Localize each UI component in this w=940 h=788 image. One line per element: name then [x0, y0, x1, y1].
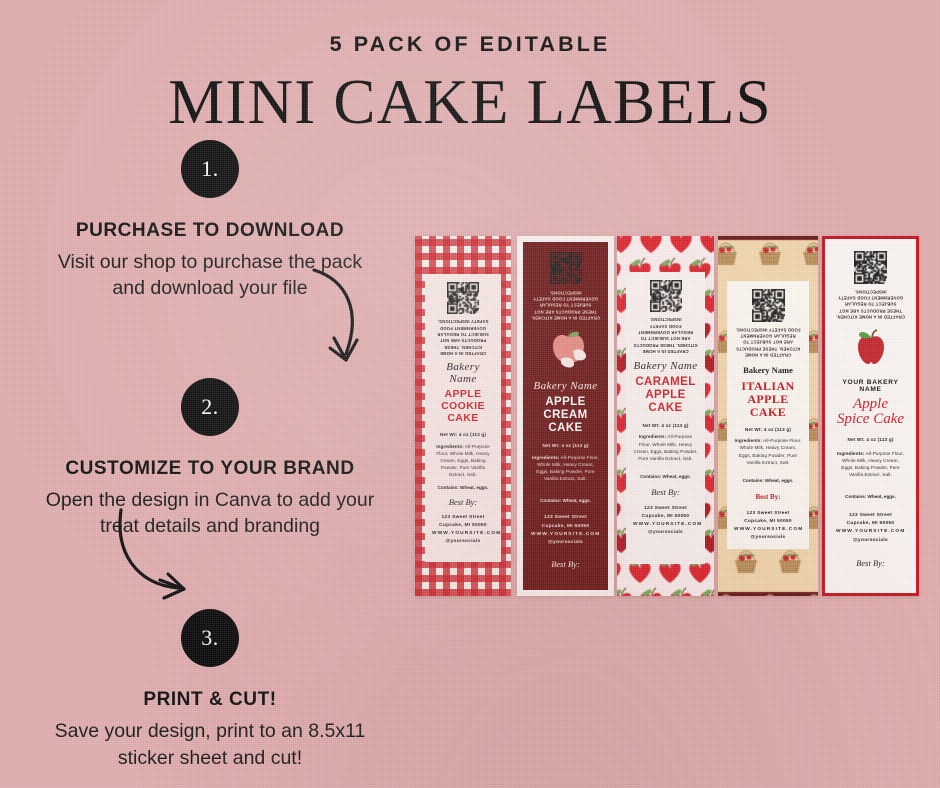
label-3-disclaimer: CRAFTED IN A HOME KITCHEN. THESE PRODUCT… — [633, 316, 698, 354]
step-3-body: Save your design, print to an 8.5x11 sti… — [0, 718, 420, 771]
label-2-ingredients: Ingredients: All-Purpose Flour, Whole Mi… — [531, 454, 600, 482]
label-1-card: CRAFTED IN A HOME KITCHEN. THESE PRODUCT… — [425, 274, 501, 562]
apple-with-slices-icon-2 — [531, 329, 600, 374]
label-1-website: WWW.YOURSITE.COM — [432, 530, 494, 538]
label-5-city: Cupcake, MI 50050 — [836, 520, 905, 528]
arrow-step2-to-step3 — [112, 500, 212, 610]
label-2-website: WWW.YOURSITE.COM — [531, 531, 600, 539]
label-3-card: CRAFTED IN A HOME KITCHEN. THESE PRODUCT… — [626, 272, 705, 564]
label-1-bakery-name: Bakery Name — [432, 361, 494, 385]
label-1-city: Cupcake, MI 50050 — [432, 522, 494, 530]
step-1-badge: 1. — [181, 140, 239, 198]
label-4-street: 123 Sweet Street — [734, 510, 802, 518]
label-3-website: WWW.YOURSITE.COM — [633, 521, 698, 529]
qr-code-1 — [447, 282, 479, 314]
label-4-city: Cupcake, MI 50050 — [734, 518, 802, 526]
label-4-best-by: Best By: — [734, 493, 802, 501]
label-5-net-weight: Net Wt: 4 oz (113 g) — [836, 437, 905, 442]
label-5-address: 123 Sweet Street Cupcake, MI 50050 WWW.Y… — [836, 512, 905, 545]
label-3-net-weight: Net Wt: 4 oz (113 g) — [633, 423, 698, 428]
label-4-website: WWW.YOURSITE.COM — [734, 526, 802, 534]
label-3-street: 123 Sweet Street — [633, 505, 698, 513]
label-1-ingredients: Ingredients: All-Purpose Flour, Whole Mi… — [432, 443, 494, 479]
label-5-ingredients: Ingredients: All-Purpose Flour, Whole Mi… — [836, 450, 905, 478]
qr-code-3 — [650, 280, 682, 312]
label-5-street: 123 Sweet Street — [836, 512, 905, 520]
label-1-contains: Contains: Wheat, eggs. — [432, 485, 494, 490]
label-2-social: @yoursocials — [531, 539, 600, 547]
label-1-social: @yoursocials — [432, 538, 494, 546]
page-title: MINI CAKE LABELS — [0, 71, 940, 134]
label-4-card: CRAFTED IN A HOME KITCHEN. THESE PRODUCT… — [727, 281, 809, 549]
label-4-bakery-name: Bakery Name — [734, 365, 802, 375]
label-4-address: 123 Sweet Street Cupcake, MI 50050 WWW.Y… — [734, 510, 802, 543]
step-2-title: CUSTOMIZE TO YOUR BRAND — [0, 458, 420, 480]
label-2-card: CRAFTED IN A HOME KITCHEN. THESE PRODUCT… — [523, 242, 608, 590]
qr-code-4 — [752, 289, 785, 322]
label-1-net-weight: Net Wt: 4 oz (113 g) — [432, 432, 494, 437]
label-previews: CRAFTED IN A HOME KITCHEN. THESE PRODUCT… — [415, 236, 925, 596]
step-3: 3. PRINT & CUT! Save your design, print … — [0, 609, 420, 771]
label-2-address: 123 Sweet Street Cupcake, MI 50050 WWW.Y… — [531, 514, 600, 547]
label-3-best-by: Best By: — [633, 487, 698, 497]
label-4-ingredients: Ingredients: All-Purpose Flour, Whole Mi… — [734, 437, 802, 465]
label-2-bakery-name: Bakery Name — [531, 380, 600, 392]
label-2-disclaimer: CRAFTED IN A HOME KITCHEN. THESE PRODUCT… — [531, 289, 600, 321]
steps-list: 1. PURCHASE TO DOWNLOAD Visit our shop t… — [0, 140, 420, 771]
label-5-bakery-name: YOUR BAKERY NAME — [836, 379, 905, 393]
label-3-product-name: CARAMEL APPLE CAKE — [633, 376, 698, 415]
label-5-social: @yoursocials — [836, 537, 905, 545]
label-4-disclaimer: CRAFTED IN A HOME KITCHEN. THESE PRODUCT… — [734, 326, 802, 358]
step-3-title: PRINT & CUT! — [0, 689, 420, 711]
arrow-step1-to-step2 — [300, 262, 380, 377]
label-2-ingredients-label: Ingredients: — [532, 455, 560, 460]
label-3-social: @yoursocials — [633, 529, 698, 537]
qr-code-2 — [550, 252, 582, 284]
page-header: 5 PACK OF EDITABLE MINI CAKE LABELS — [0, 34, 940, 134]
label-3-ingredients: Ingredients: All-Purpose Flour, Whole Mi… — [633, 433, 698, 461]
label-3-ingredients-label: Ingredients: — [639, 434, 667, 439]
label-3-city: Cupcake, MI 50050 — [633, 513, 698, 521]
label-5-disclaimer: CRAFTED IN A HOME KITCHEN. THESE PRODUCT… — [836, 288, 905, 320]
label-2-contains: Contains: Wheat, eggs. — [531, 498, 600, 503]
label-4-ingredients-label: Ingredients: — [735, 438, 763, 443]
step-1-title: PURCHASE TO DOWNLOAD — [0, 220, 420, 242]
label-1-disclaimer: CRAFTED IN A HOME KITCHEN. THESE PRODUCT… — [432, 318, 494, 356]
label-4-product-name: ITALIAN APPLE CAKE — [734, 380, 802, 420]
label-caramel-apple-cake[interactable]: CRAFTED IN A HOME KITCHEN. THESE PRODUCT… — [617, 236, 714, 596]
apple-whole-icon-5 — [836, 328, 905, 371]
step-2-badge: 2. — [181, 378, 239, 436]
label-1-best-by: Best By: — [432, 497, 494, 507]
label-1-street: 123 Sweet Street — [432, 514, 494, 522]
label-5-ingredients-label: Ingredients: — [837, 451, 865, 456]
label-3-contains: Contains: Wheat, eggs. — [633, 474, 698, 479]
label-5-best-by: Best By: — [836, 558, 905, 568]
label-2-product-name: APPLE CREAM CAKE — [531, 396, 600, 435]
label-2-net-weight: Net Wt: 4 oz (113 g) — [531, 443, 600, 448]
label-4-social: @yoursocials — [734, 534, 802, 542]
label-3-bakery-name: Bakery Name — [633, 360, 698, 372]
label-apple-spice-cake[interactable]: CRAFTED IN A HOME KITCHEN. THESE PRODUCT… — [822, 236, 919, 596]
label-5-contains: Contains: Wheat, eggs. — [836, 494, 905, 499]
label-1-address: 123 Sweet Street Cupcake, MI 50050 WWW.Y… — [432, 514, 494, 547]
label-5-product-name: Apple Spice Cake — [836, 397, 905, 427]
step-3-badge: 3. — [181, 609, 239, 667]
label-apple-cream-cake[interactable]: CRAFTED IN A HOME KITCHEN. THESE PRODUCT… — [517, 236, 614, 596]
label-2-best-by: Best By: — [531, 559, 600, 569]
label-3-address: 123 Sweet Street Cupcake, MI 50050 WWW.Y… — [633, 505, 698, 538]
label-2-city: Cupcake, MI 50050 — [531, 523, 600, 531]
label-5-website: WWW.YOURSITE.COM — [836, 528, 905, 536]
label-apple-cookie-cake[interactable]: CRAFTED IN A HOME KITCHEN. THESE PRODUCT… — [415, 236, 511, 596]
label-1-product-name: APPLE COOKIE CAKE — [432, 389, 494, 425]
label-4-contains: Contains: Wheat, eggs. — [734, 478, 802, 483]
label-5-card: CRAFTED IN A HOME KITCHEN. THESE PRODUCT… — [829, 243, 912, 589]
label-2-street: 123 Sweet Street — [531, 514, 600, 522]
header-kicker: 5 PACK OF EDITABLE — [0, 34, 940, 56]
label-4-net-weight: Net Wt: 4 oz (113 g) — [734, 427, 802, 432]
label-1-ingredients-label: Ingredients: — [436, 444, 464, 449]
qr-code-5 — [854, 251, 887, 284]
label-italian-apple-cake[interactable]: CRAFTED IN A HOME KITCHEN. THESE PRODUCT… — [718, 236, 818, 596]
